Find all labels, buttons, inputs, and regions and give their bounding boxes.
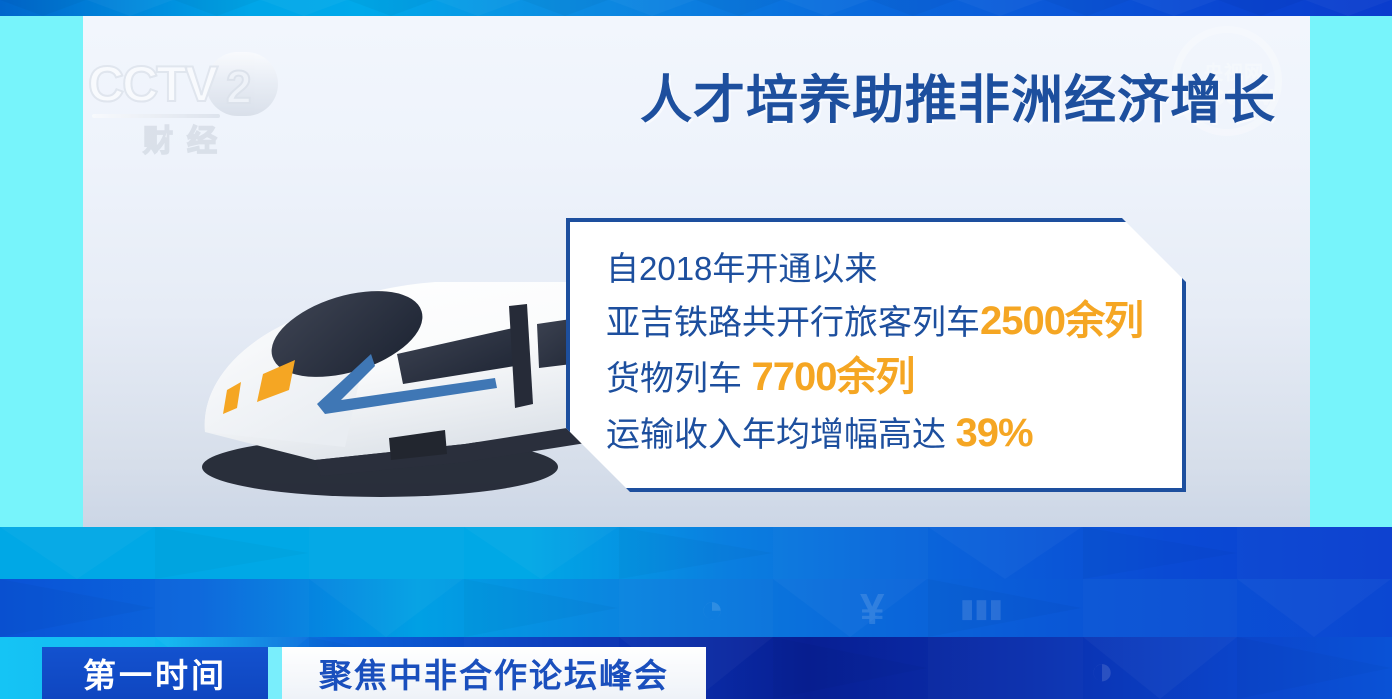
statistics-callout-box: 自2018年开通以来 亚吉铁路共开行旅客列车2500余列 货物列车 7700余列… [566, 218, 1186, 492]
band-finance-glyph: ◑ [1090, 649, 1114, 694]
page-title: 人才培养助推非洲经济增长 [640, 58, 1320, 133]
callout-line-3-highlight: 7700余列 [751, 355, 914, 399]
band-finance-glyph: ¥ [860, 585, 884, 635]
top-band-triangle [696, 0, 782, 16]
band-diamond [309, 527, 464, 579]
callout-line-4: 运输收入年均增幅高达 39% [606, 413, 1182, 453]
top-band-triangle [261, 0, 347, 16]
band-diamond [928, 527, 1082, 579]
band-diamond [155, 527, 309, 579]
band-diamond [619, 579, 774, 637]
top-band-triangle [348, 0, 434, 16]
band-diamond [1237, 527, 1392, 579]
band-diamond [773, 637, 927, 699]
callout-line-2-text: 亚吉铁路共开行旅客列车 [606, 304, 980, 342]
band-diamond [773, 579, 927, 637]
band-diamond [155, 579, 310, 637]
band-diamond [1237, 579, 1391, 637]
top-band-triangle [174, 0, 260, 16]
band-finance-glyph: ◔ [700, 587, 724, 632]
logo-letters: CCTV [88, 56, 248, 112]
callout-line-3-text: 货物列车 [606, 360, 751, 398]
logo-channel-number: 2 [226, 60, 252, 114]
top-band-triangle [1044, 0, 1130, 16]
top-band-triangle [783, 0, 869, 16]
band-diamond [0, 527, 154, 579]
band-diamond [464, 527, 618, 579]
callout-line-2: 亚吉铁路共开行旅客列车2500余列 [606, 301, 1182, 341]
chyron-program-block: 第一时间 [42, 647, 268, 699]
callout-line-4-text: 运输收入年均增幅高达 [606, 416, 955, 454]
band-diamond [1083, 527, 1237, 579]
top-band-triangle [957, 0, 1043, 16]
callout-line-1: 自2018年开通以来 [606, 252, 1182, 285]
logo-subtitle: 财经 [112, 116, 262, 160]
top-band-triangle [609, 0, 695, 16]
high-speed-train-illustration [165, 262, 605, 512]
right-cyan-rail [1310, 16, 1392, 527]
band-diamond [464, 579, 618, 637]
top-band-triangle [1218, 0, 1304, 16]
chyron-program-label: 第一时间 [83, 649, 227, 697]
band-diamond [1083, 579, 1238, 637]
callout-line-1-text: 自2018年开通以来 [606, 250, 877, 287]
callout-line-4-highlight: 39% [955, 411, 1032, 455]
top-decorative-band [0, 0, 1392, 16]
band-diamond [773, 527, 928, 579]
band-finance-glyph: ▮▮▮ [960, 593, 1003, 624]
top-band-triangle [435, 0, 521, 16]
lower-third-chyron: 第一时间 聚焦中非合作论坛峰会 [42, 647, 706, 699]
band-diamond [1237, 637, 1391, 699]
chyron-topic-block: 聚焦中非合作论坛峰会 [282, 647, 706, 699]
band-diamond [928, 579, 1082, 637]
chyron-topic-label: 聚焦中非合作论坛峰会 [319, 649, 669, 697]
left-cyan-rail [0, 16, 83, 527]
callout-line-2-highlight: 2500余列 [980, 299, 1143, 343]
chyron-divider [268, 647, 282, 699]
band-diamond [619, 527, 773, 579]
top-band-triangle [522, 0, 608, 16]
broadcast-screen: CCTV 2 财经 央视网 CCTV 人才培养助推非洲经济增长 [0, 0, 1392, 699]
band-diamond [309, 579, 463, 637]
band-diamond [928, 637, 1083, 699]
top-band-triangle [0, 0, 86, 16]
top-band-triangle [870, 0, 956, 16]
top-band-triangle [1131, 0, 1217, 16]
cctv2-channel-logo: CCTV 2 财经 [88, 50, 278, 146]
callout-line-3: 货物列车 7700余列 [606, 357, 1182, 397]
top-band-triangle [1305, 0, 1391, 16]
band-diamond [0, 579, 154, 637]
top-band-triangle [87, 0, 173, 16]
